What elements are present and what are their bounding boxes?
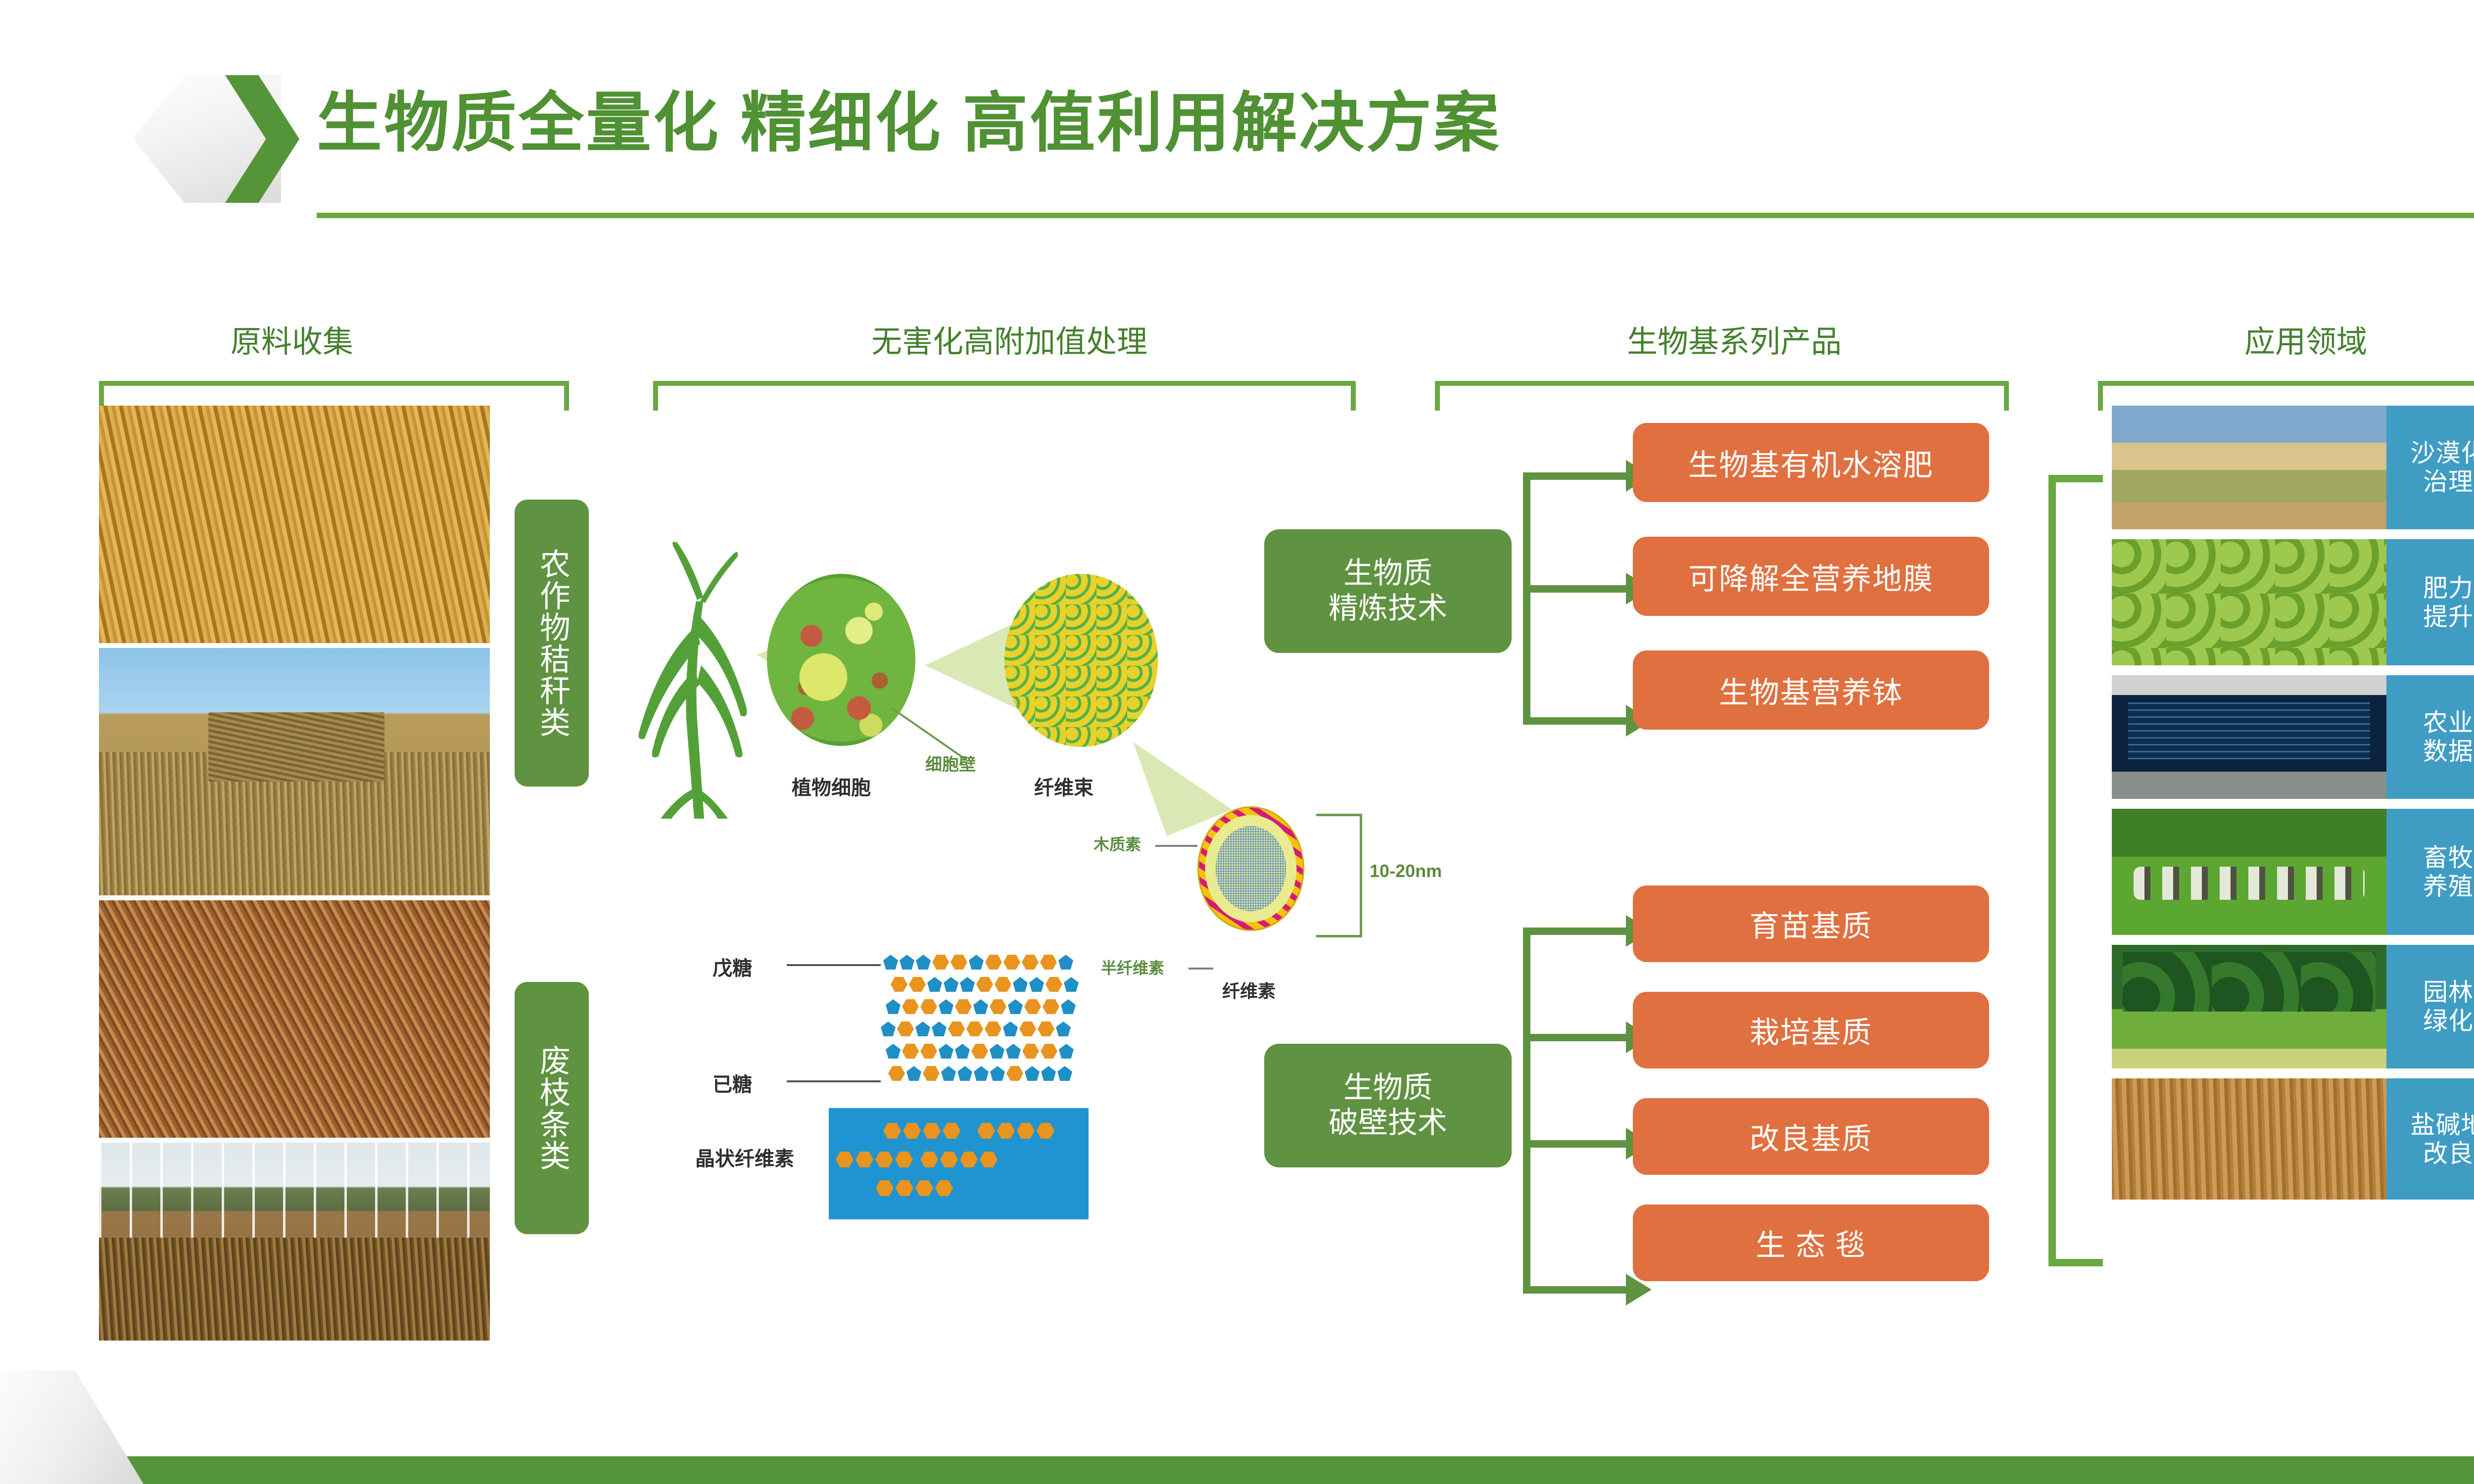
section-title-products: 生物基系列产品 <box>1425 317 2044 361</box>
photo-corn-stalk-field <box>99 406 490 643</box>
crystalline-cellulose-illustration <box>829 1108 1089 1219</box>
app-label-fertility-boost[interactable]: 肥力 提升 <box>2386 539 2474 665</box>
tech-2-line2: 破壁技术 <box>1329 1106 1447 1139</box>
product-box-seedling-substrate[interactable]: 育苗基质 <box>1633 885 1989 962</box>
cellulose-nanofiber-illustration <box>1197 806 1304 931</box>
connector-trunk-refining <box>1523 472 1530 725</box>
tech-2-line1: 生物质 <box>1343 1071 1432 1104</box>
nano-dimension-line <box>1360 814 1362 937</box>
sugar-chain-row <box>886 1044 1074 1059</box>
connector-arm-product-4 <box>1523 927 1627 935</box>
connector-trunk-wallbreaking <box>1523 927 1530 1294</box>
product-box-degradable-mulch-film[interactable]: 可降解全营养地膜 <box>1633 537 1989 616</box>
sugar-chain-row <box>881 1021 1071 1036</box>
pentose-label: 戊糖 <box>713 952 752 981</box>
page-title: 生物质全量化 精细化 高值利用解决方案 <box>317 84 1501 162</box>
section-title-applications: 应用领域 <box>2083 317 2474 361</box>
sugar-chain-row <box>891 977 1079 992</box>
crystalline-cellulose-label: 晶状纤维素 <box>695 1143 794 1171</box>
photo-straw-bale-field <box>99 648 490 895</box>
app-label-landscaping[interactable]: 园林 绿化 <box>2386 945 2474 1068</box>
sugar-chain-row <box>888 1066 1072 1081</box>
app-label-saline-alkali-improvement[interactable]: 盐碱地 改良 <box>2386 1078 2474 1200</box>
connector-arm-product-7 <box>1523 1286 1627 1294</box>
fiber-bundle-caption: 纤维束 <box>1034 772 1094 800</box>
connector-arm-product-3 <box>1523 717 1627 725</box>
fiber-bundle-illustration <box>1004 574 1158 747</box>
pentose-leader-line <box>787 962 886 968</box>
hemicellulose-label: 半纤维素 <box>1101 956 1164 978</box>
hexose-leader-line <box>787 1078 886 1084</box>
footer-corner-decoration <box>0 1370 143 1484</box>
photo-dry-branches <box>99 900 490 1138</box>
product-box-cultivation-substrate[interactable]: 栽培基质 <box>1633 992 1989 1068</box>
feedstock-label-crop-straw: 农作物秸秆类 <box>515 500 589 787</box>
app-label-agriculture-data[interactable]: 农业 数据 <box>2386 675 2474 799</box>
connector-arm-product-1 <box>1523 472 1627 480</box>
tech-1-line2: 精炼技术 <box>1329 592 1447 625</box>
bracket-products <box>1435 381 2009 411</box>
nano-dimension-tick-top <box>1316 814 1362 816</box>
app-photo-data-control-room <box>2112 675 2386 799</box>
feedstock-label-waste-branches: 废枝条类 <box>515 982 589 1234</box>
product-box-bio-organic-fertilizer[interactable]: 生物基有机水溶肥 <box>1633 423 1989 502</box>
sugar-chain-row <box>886 999 1076 1014</box>
app-photo-saline-soil <box>2112 1078 2386 1200</box>
plant-cell-caption: 植物细胞 <box>792 772 871 800</box>
plant-silhouette-icon <box>631 542 760 819</box>
cellulose-label: 纤维素 <box>1222 977 1276 1003</box>
section-title-processing: 无害化高附加值处理 <box>638 317 1380 361</box>
app-label-livestock-breeding[interactable]: 畜牧 养殖 <box>2386 809 2474 935</box>
app-photo-cabbage-field <box>2112 539 2386 665</box>
app-photo-sheep-grazing <box>2112 809 2386 935</box>
app-label-desert-control[interactable]: 沙漠化 治理 <box>2386 406 2474 529</box>
footer-band <box>0 1456 2474 1484</box>
photo-orchard-pruning <box>99 1143 490 1341</box>
tech-box-biomass-refining[interactable]: 生物质 精炼技术 <box>1264 529 1512 653</box>
product-box-improvement-substrate[interactable]: 改良基质 <box>1633 1098 1989 1175</box>
nano-dimension-tick-bottom <box>1316 935 1362 937</box>
product-box-ecological-blanket[interactable]: 生 态 毯 <box>1633 1205 1989 1281</box>
connector-arm-product-6 <box>1523 1140 1627 1148</box>
title-underline <box>317 213 2474 218</box>
sugar-chain-row <box>883 955 1073 970</box>
tech-1-line1: 生物质 <box>1343 556 1432 590</box>
nano-dimension-label: 10-20nm <box>1370 861 1442 881</box>
cellwall-caption: 细胞壁 <box>925 751 976 775</box>
app-photo-park-landscaping <box>2112 945 2386 1068</box>
connector-arm-product-2 <box>1523 585 1627 593</box>
bracket-applications-group <box>2048 475 2103 1266</box>
section-title-feedstock: 原料收集 <box>94 317 490 361</box>
tech-box-cellwall-breaking[interactable]: 生物质 破壁技术 <box>1264 1044 1512 1167</box>
lignin-label: 木质素 <box>1094 832 1141 855</box>
app-photo-desert-control <box>2112 406 2386 529</box>
connector-arm-product-5 <box>1523 1034 1627 1041</box>
product-box-bio-nutrient-pot[interactable]: 生物基营养钵 <box>1633 650 1989 730</box>
hexose-label: 已糖 <box>713 1068 752 1097</box>
bracket-processing <box>653 381 1356 411</box>
